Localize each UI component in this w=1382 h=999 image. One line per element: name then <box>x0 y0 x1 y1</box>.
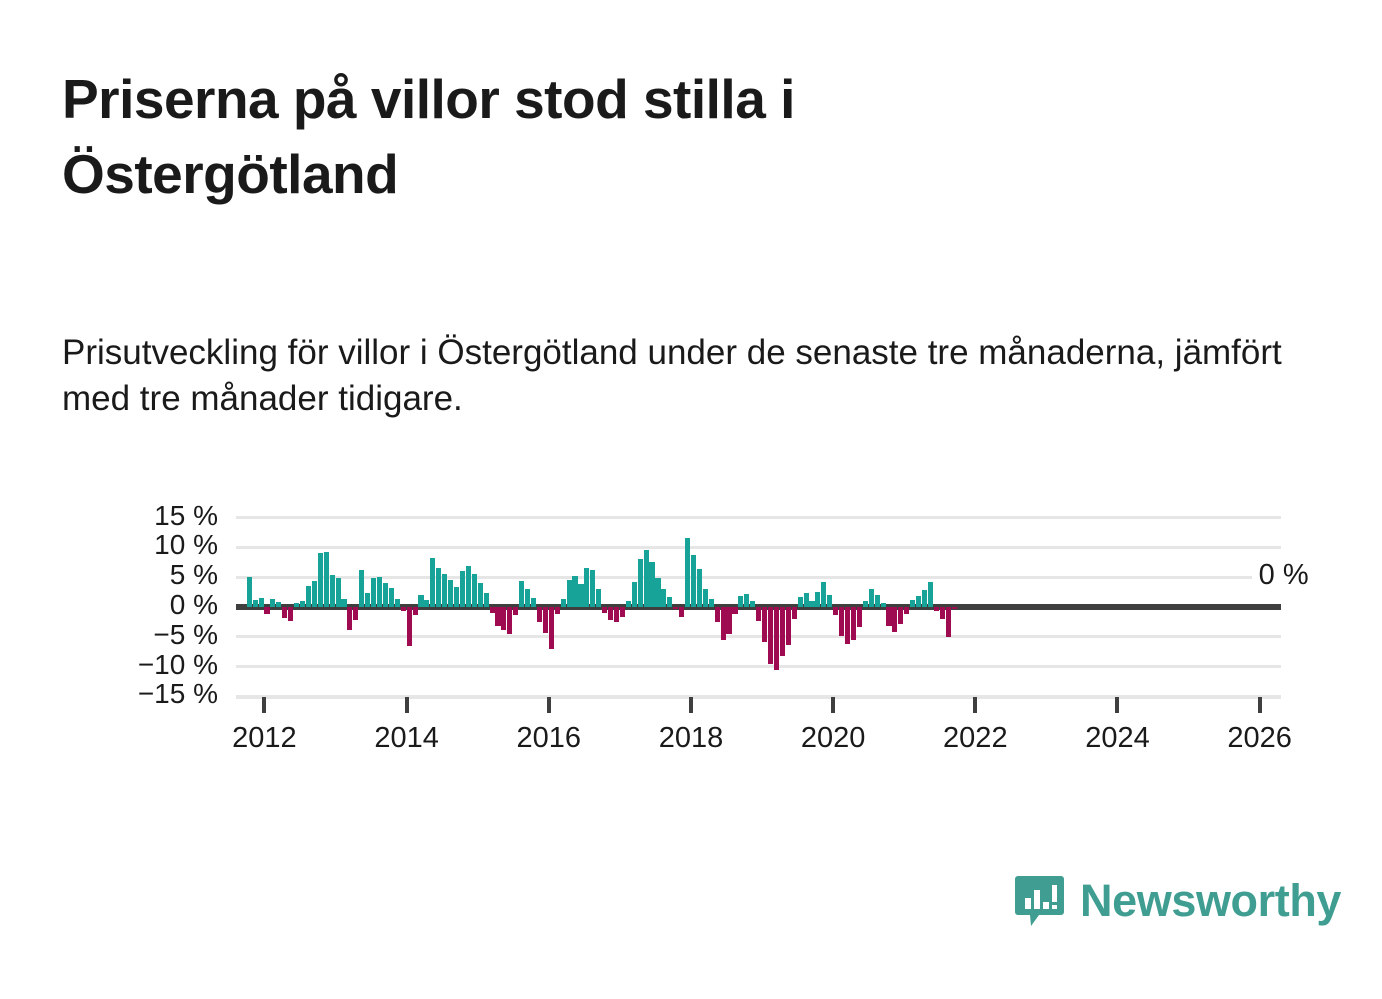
chart-bar <box>578 584 583 607</box>
x-axis-tick <box>1258 697 1262 713</box>
chart-bar <box>774 607 779 670</box>
chart-bar <box>608 607 613 620</box>
y-axis-tick-label: 15 % <box>60 500 218 532</box>
chart-bar <box>347 607 352 630</box>
chart-bar <box>442 574 447 607</box>
gridline <box>236 516 1281 519</box>
gridline <box>236 695 1281 698</box>
chart-bar <box>886 607 891 626</box>
chart-bar <box>881 603 886 607</box>
chart-bar <box>798 597 803 607</box>
x-axis-tick <box>973 697 977 713</box>
chart-bar <box>306 586 311 607</box>
chart-bar <box>330 575 335 607</box>
page-subtitle: Prisutveckling för villor i Östergötland… <box>62 330 1292 422</box>
chart-bar <box>567 580 572 607</box>
chart-bar <box>632 582 637 607</box>
x-axis-tick-label: 2012 <box>232 722 297 755</box>
chart-bar <box>454 587 459 607</box>
chart-bar <box>916 596 921 607</box>
chart-bar <box>792 607 797 619</box>
chart-bar <box>561 599 566 607</box>
chart-bar <box>614 607 619 622</box>
chart-bar <box>264 607 269 614</box>
chart-bar <box>413 607 418 615</box>
chart-bar <box>721 607 726 640</box>
chart-bar <box>709 599 714 607</box>
chart-bar <box>644 550 649 607</box>
chart-bar <box>543 607 548 633</box>
page-title: Priserna på villor stod stilla i Östergö… <box>62 62 1062 212</box>
chart-bar <box>318 553 323 607</box>
chart-bar <box>472 574 477 607</box>
chart-bar <box>324 552 329 607</box>
gridline <box>236 576 1281 579</box>
chart-bar <box>484 593 489 607</box>
chart-bar <box>584 568 589 607</box>
chart-bar <box>383 583 388 607</box>
chart-bar <box>448 580 453 607</box>
chart-bar <box>928 582 933 607</box>
chart-bar <box>940 607 945 619</box>
chart-bar <box>715 607 720 622</box>
chart-bar <box>282 607 287 618</box>
x-axis-tick <box>262 697 266 713</box>
chart-bar <box>626 601 631 607</box>
gridline <box>236 546 1281 549</box>
x-axis-tick-label: 2026 <box>1227 722 1292 755</box>
chart-bar <box>507 607 512 634</box>
infographic-page: Priserna på villor stod stilla i Östergö… <box>0 0 1382 999</box>
chart-bar <box>259 598 264 607</box>
chart-bar <box>952 607 957 609</box>
chart-bar <box>389 588 394 607</box>
chart-bar <box>430 558 435 607</box>
chart-bar <box>519 581 524 607</box>
chart-bar <box>857 607 862 627</box>
chart-bar <box>762 607 767 642</box>
chart-bar <box>892 607 897 632</box>
chart-bar <box>845 607 850 644</box>
chart-bar <box>294 603 299 607</box>
chart-bar <box>407 607 412 646</box>
chart-bar <box>359 570 364 607</box>
chart-bar <box>478 583 483 607</box>
chart-bar <box>697 569 702 607</box>
chart-bar <box>732 607 737 614</box>
chart-bar <box>726 607 731 634</box>
chart-bar <box>312 581 317 607</box>
chart-bar <box>922 590 927 607</box>
chart-bar <box>365 593 370 607</box>
x-axis-tick-label: 2020 <box>801 722 866 755</box>
chart-bar <box>786 607 791 645</box>
y-axis-tick-label: −10 % <box>60 649 218 681</box>
x-axis-tick <box>831 697 835 713</box>
chart-bar <box>738 596 743 607</box>
chart-bar <box>667 597 672 607</box>
chart-bar <box>401 607 406 611</box>
chart-bar <box>691 555 696 607</box>
chart-bar <box>253 600 258 607</box>
x-axis-line <box>236 696 1281 699</box>
zero-line-label: 0 % <box>1252 559 1316 592</box>
chart-bar <box>513 607 518 615</box>
y-axis-tick-label: 10 % <box>60 529 218 561</box>
chart-bar <box>756 607 761 621</box>
chart-bar <box>300 601 305 607</box>
brand-name: Newsworthy <box>1080 878 1341 923</box>
y-axis-tick-label: 0 % <box>60 589 218 621</box>
chart-bar <box>276 602 281 607</box>
chart-bar <box>531 598 536 607</box>
chart-bar <box>353 607 358 620</box>
chart-bar <box>549 607 554 649</box>
chart-bar <box>649 562 654 607</box>
chart-bar <box>377 577 382 607</box>
chart-bar <box>638 559 643 607</box>
chart-bar <box>336 578 341 607</box>
chart-bar <box>839 607 844 636</box>
chart-bar <box>869 589 874 607</box>
chart-bar <box>673 607 678 609</box>
chart-bar <box>946 607 951 637</box>
x-axis-tick-label: 2016 <box>517 722 582 755</box>
y-axis-tick-label: 5 % <box>60 559 218 591</box>
chart-bar <box>490 607 495 613</box>
chart-bar <box>590 570 595 607</box>
y-axis-tick-label: −15 % <box>60 678 218 710</box>
y-axis-tick-label: −5 % <box>60 619 218 651</box>
chart-bar <box>537 607 542 622</box>
chart-bar <box>934 607 939 611</box>
chart-bar <box>875 595 880 607</box>
chart-bar <box>371 578 376 607</box>
chart-bar <box>247 577 252 607</box>
chart-bar <box>418 595 423 607</box>
x-axis-tick <box>547 697 551 713</box>
chart-bar <box>809 601 814 607</box>
chart-bar <box>596 589 601 607</box>
chart-bar <box>750 601 755 607</box>
chart-bar <box>288 607 293 621</box>
chart-bar <box>780 607 785 656</box>
chart-bar <box>495 607 500 626</box>
chart-bar <box>910 600 915 607</box>
x-axis-tick <box>405 697 409 713</box>
chart-bar <box>501 607 506 630</box>
chart-bar <box>898 607 903 624</box>
chart-bar <box>804 593 809 607</box>
chart-bar <box>768 607 773 664</box>
chart-bar <box>827 595 832 607</box>
chart-bar <box>655 578 660 607</box>
chart-bar <box>833 607 838 615</box>
gridline <box>236 665 1281 668</box>
chart-bar <box>685 538 690 607</box>
chart-bar <box>679 607 684 617</box>
chart-bar <box>270 599 275 607</box>
chart-bar <box>460 571 465 607</box>
x-axis-tick <box>689 697 693 713</box>
x-axis-tick <box>1115 697 1119 713</box>
x-axis-tick-label: 2018 <box>659 722 724 755</box>
chart-bar <box>821 582 826 607</box>
chart-bar <box>572 576 577 607</box>
chart-bar <box>424 600 429 607</box>
chart-bar <box>466 566 471 607</box>
chart-bar <box>525 589 530 607</box>
gridline <box>236 635 1281 638</box>
chart-bar <box>744 594 749 607</box>
x-axis-tick-label: 2022 <box>943 722 1008 755</box>
chart-bar <box>341 599 346 607</box>
chart-bar <box>436 568 441 607</box>
chart-bar <box>703 589 708 607</box>
chart-bar <box>555 607 560 614</box>
x-axis-tick-label: 2024 <box>1085 722 1150 755</box>
brand-logo[interactable]: Newsworthy <box>1013 874 1341 927</box>
chart-bar <box>904 607 909 614</box>
chart-bar <box>661 589 666 607</box>
chart-bar <box>851 607 856 640</box>
chart-bar <box>620 607 625 617</box>
bar-chart-speech-bubble-icon <box>1013 874 1066 927</box>
chart-bar <box>815 592 820 607</box>
x-axis-tick-label: 2014 <box>374 722 439 755</box>
chart-bar <box>602 607 607 613</box>
chart-bar <box>863 601 868 607</box>
zero-line <box>236 604 1281 610</box>
chart-bar <box>395 599 400 607</box>
